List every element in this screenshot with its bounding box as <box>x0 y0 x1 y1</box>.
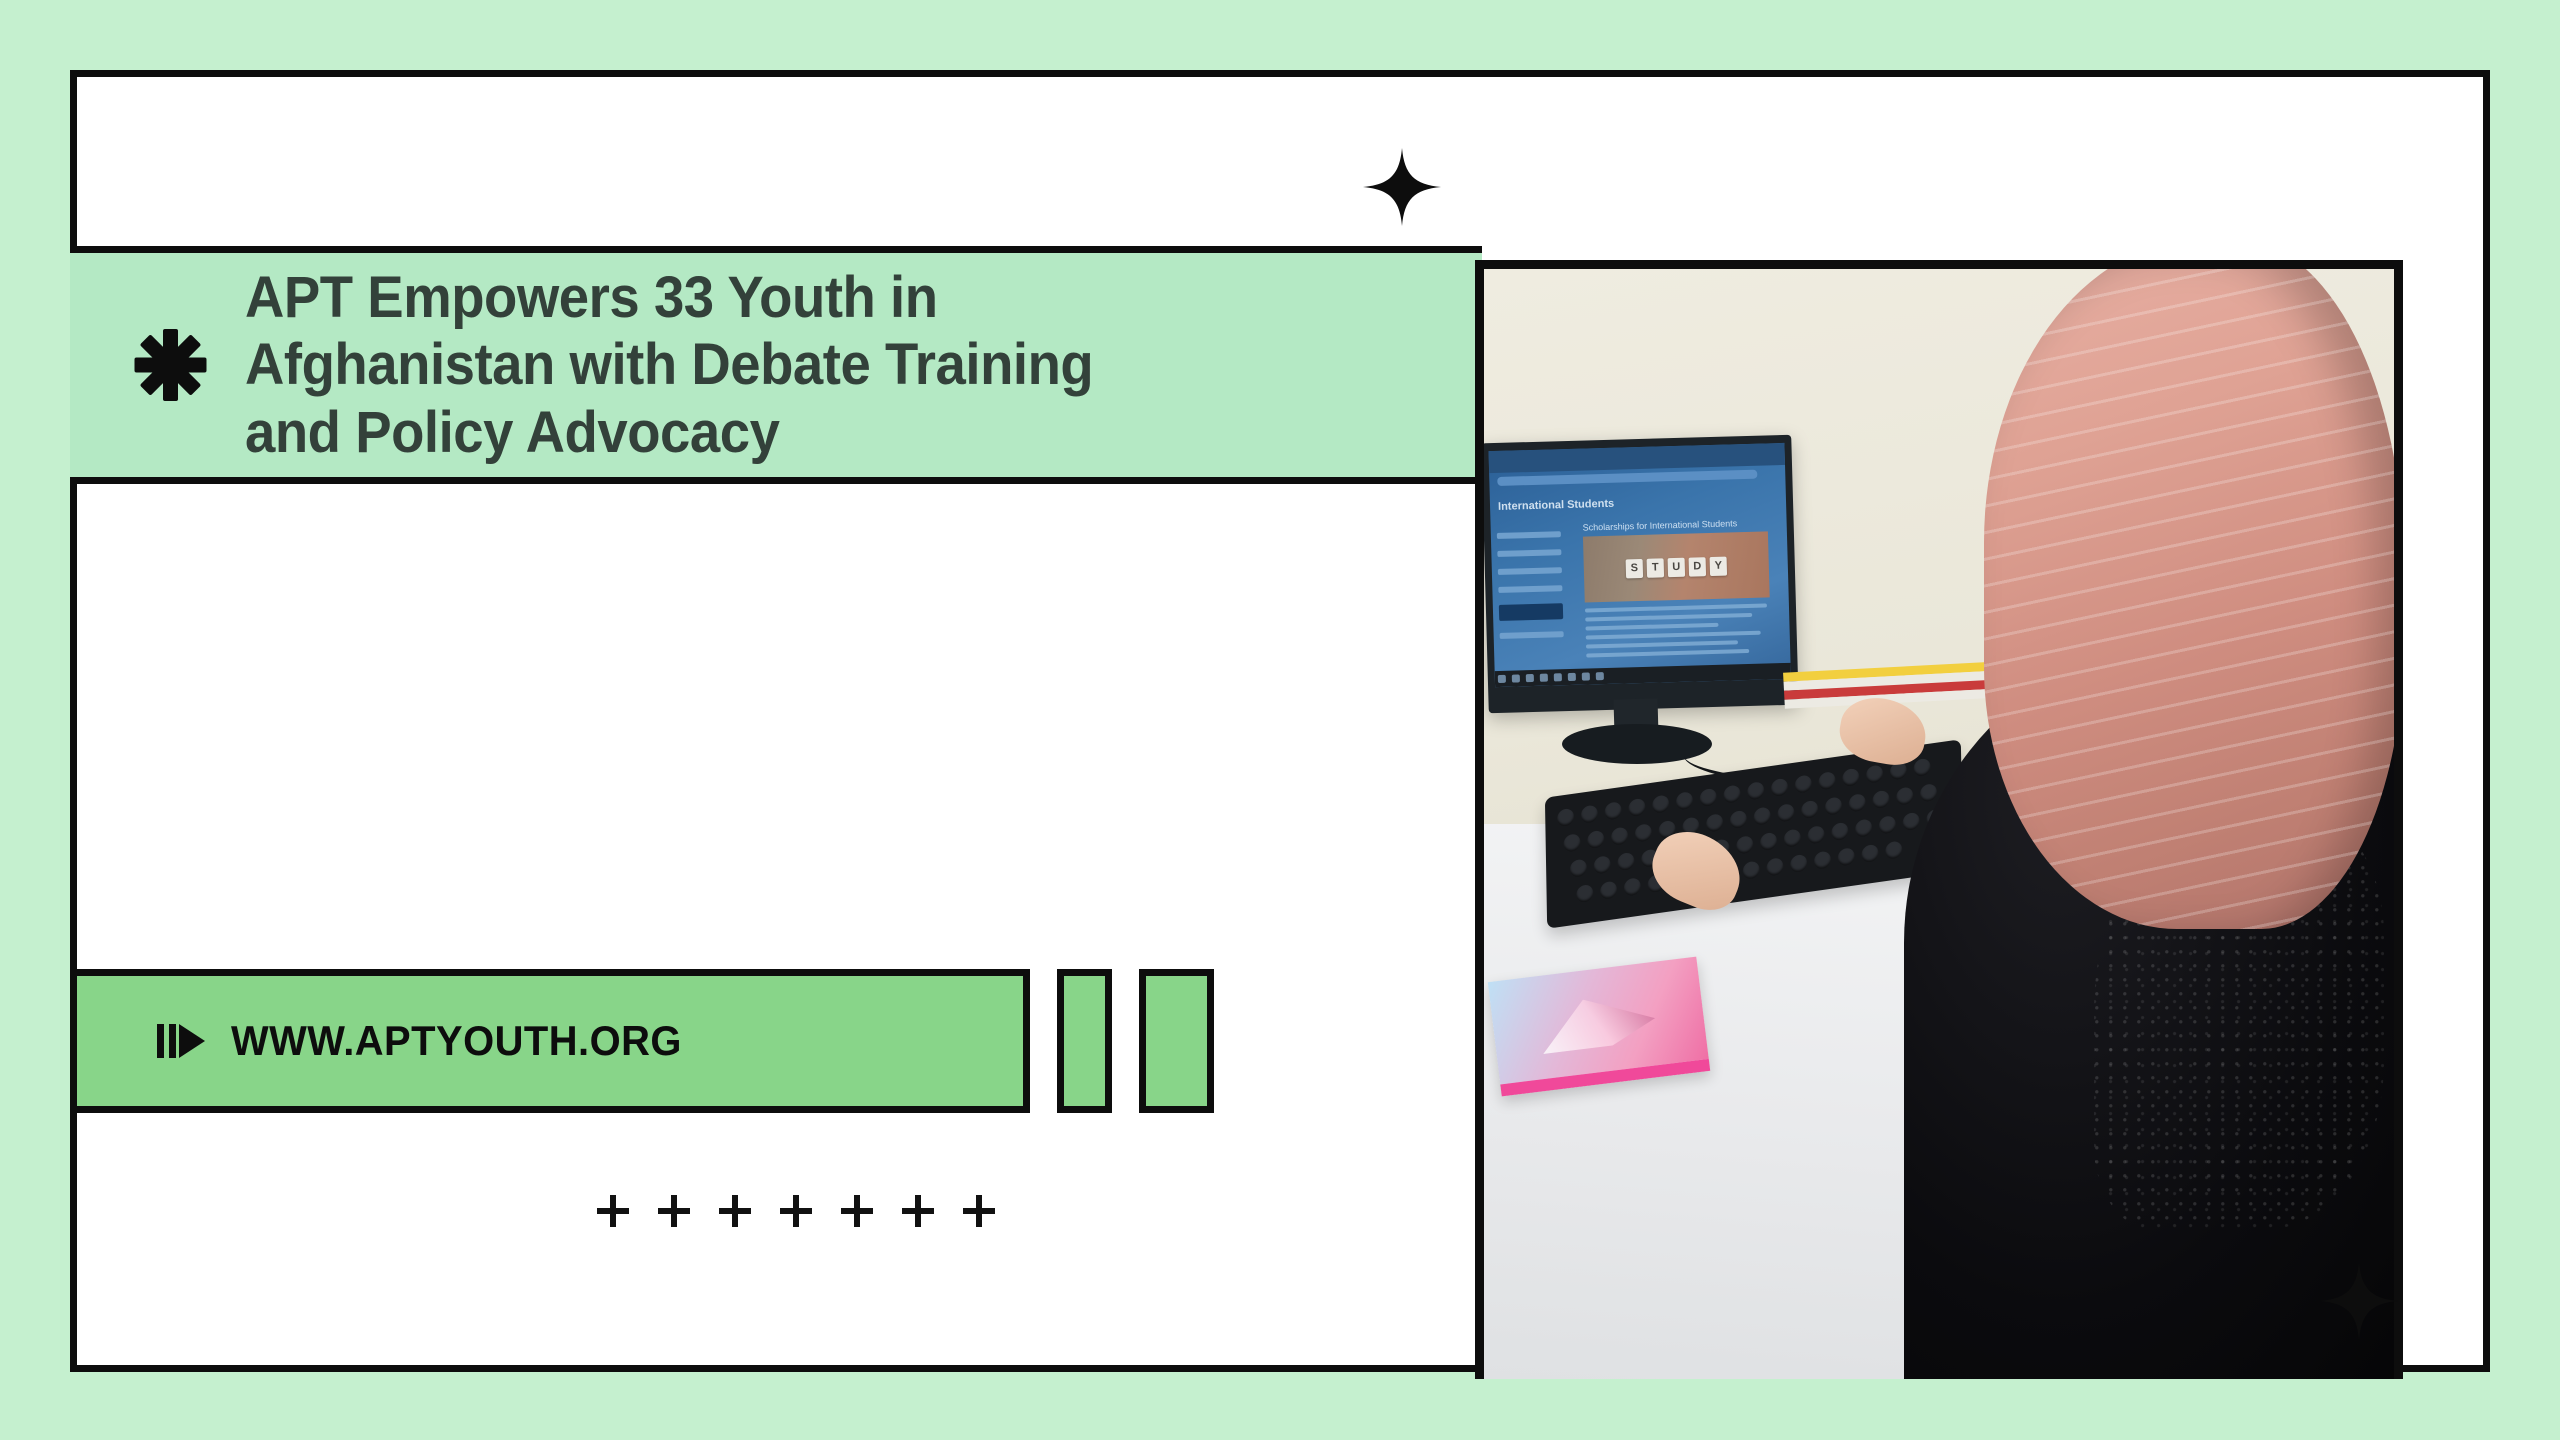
plus-icon <box>658 1195 690 1227</box>
text-column: APT Empowers 33 Youth in Afghanistan wit… <box>77 77 1477 1365</box>
poster-card: APT Empowers 33 Youth in Afghanistan wit… <box>70 70 2490 1372</box>
study-letter: S <box>1626 558 1644 577</box>
plus-icon <box>719 1195 751 1227</box>
page-title: APT Empowers 33 Youth in Afghanistan wit… <box>245 264 1194 466</box>
study-letter: Y <box>1710 556 1728 575</box>
headline-band: APT Empowers 33 Youth in Afghanistan wit… <box>70 246 1482 484</box>
browser-urlbar <box>1497 470 1758 486</box>
accent-chip-2 <box>1139 969 1214 1113</box>
plus-icon <box>902 1195 934 1227</box>
photo-monitor: International Students Scholarships for … <box>1481 435 1798 714</box>
screen-body-text <box>1585 603 1776 662</box>
website-bar-row: WWW.APTYOUTH.ORG <box>77 969 1214 1113</box>
fast-forward-icon <box>157 1020 205 1062</box>
study-letter: T <box>1647 558 1665 577</box>
monitor-screen: International Students Scholarships for … <box>1489 443 1791 687</box>
plus-decoration-bottom <box>597 1195 995 1227</box>
screen-study-banner: S T U D Y <box>1583 531 1770 602</box>
browser-topbar <box>1489 443 1785 473</box>
plus-icon <box>597 1195 629 1227</box>
photo-image: International Students Scholarships for … <box>1484 269 2394 1379</box>
plus-icon <box>963 1195 995 1227</box>
plus-icon <box>841 1195 873 1227</box>
photo-person-hijab <box>1984 260 2403 929</box>
screen-page-title: International Students <box>1498 498 1614 513</box>
plus-icon <box>780 1195 812 1227</box>
photo-frame: International Students Scholarships for … <box>1475 260 2403 1379</box>
asterisk-icon <box>133 328 207 402</box>
website-url-label: WWW.APTYOUTH.ORG <box>231 1017 682 1065</box>
study-letter: U <box>1668 557 1686 576</box>
screen-taskbar <box>1495 663 1791 687</box>
study-letter: D <box>1689 557 1707 576</box>
website-link-bar[interactable]: WWW.APTYOUTH.ORG <box>77 969 1030 1113</box>
screen-page-heading: Scholarships for International Students <box>1583 518 1738 532</box>
screen-sidebar-nav <box>1497 531 1564 651</box>
accent-chip-1 <box>1057 969 1112 1113</box>
